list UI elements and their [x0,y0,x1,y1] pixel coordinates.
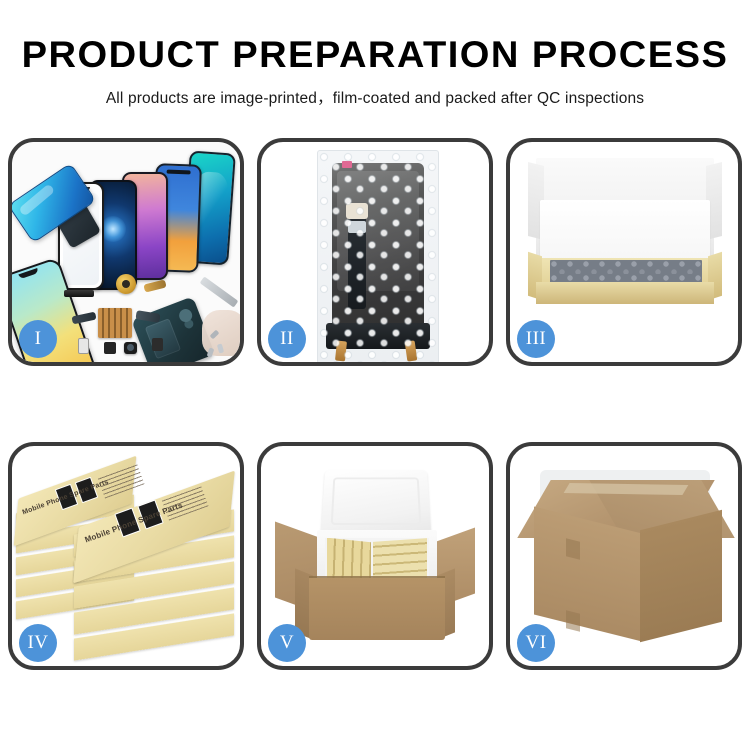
chip-1-icon [78,338,89,354]
step-panel-4: Mobile Phone Spare Parts Mobile Phone Sp… [8,442,244,670]
page-title: PRODUCT PREPARATION PROCESS [0,0,750,75]
header: PRODUCT PREPARATION PROCESS All products… [0,0,750,108]
page-subtitle: All products are image-printed，film-coat… [0,75,750,108]
step-badge-4: IV [19,624,57,662]
carton-top-seam [564,483,689,495]
step-panel-1: I [8,138,244,366]
step-badge-6: VI [517,624,555,662]
foam-sheet-icon [540,200,710,262]
camera-module-icon [124,342,137,354]
steps-grid: I II [8,138,742,670]
speaker-coil-icon [116,274,136,294]
carton-tape-lower-icon [566,610,580,631]
yellow-box-front-panel [536,282,714,304]
bubble-texture [318,151,438,362]
step-panel-5: V [257,442,493,670]
chip-2-icon [104,342,116,354]
connector-grid-icon [98,308,132,338]
step-panel-6: VI [506,442,742,670]
step-badge-2: II [268,320,306,358]
step-badge-3: III [517,320,555,358]
step-panel-2: II [257,138,493,366]
step-badge-1: I [19,320,57,358]
earpiece-bar-icon [64,290,94,297]
step-panel-3: III [506,138,742,366]
carton-tape-upper-icon [566,538,580,559]
product-preparation-infographic: PRODUCT PREPARATION PROCESS All products… [0,0,750,750]
foam-box-lid-icon [321,470,431,534]
carton-side-face [640,510,722,642]
bubble-wrap-bag [317,150,439,362]
carton-front-panel [309,578,445,640]
chip-3-icon [152,338,163,351]
step-badge-5: V [268,624,306,662]
